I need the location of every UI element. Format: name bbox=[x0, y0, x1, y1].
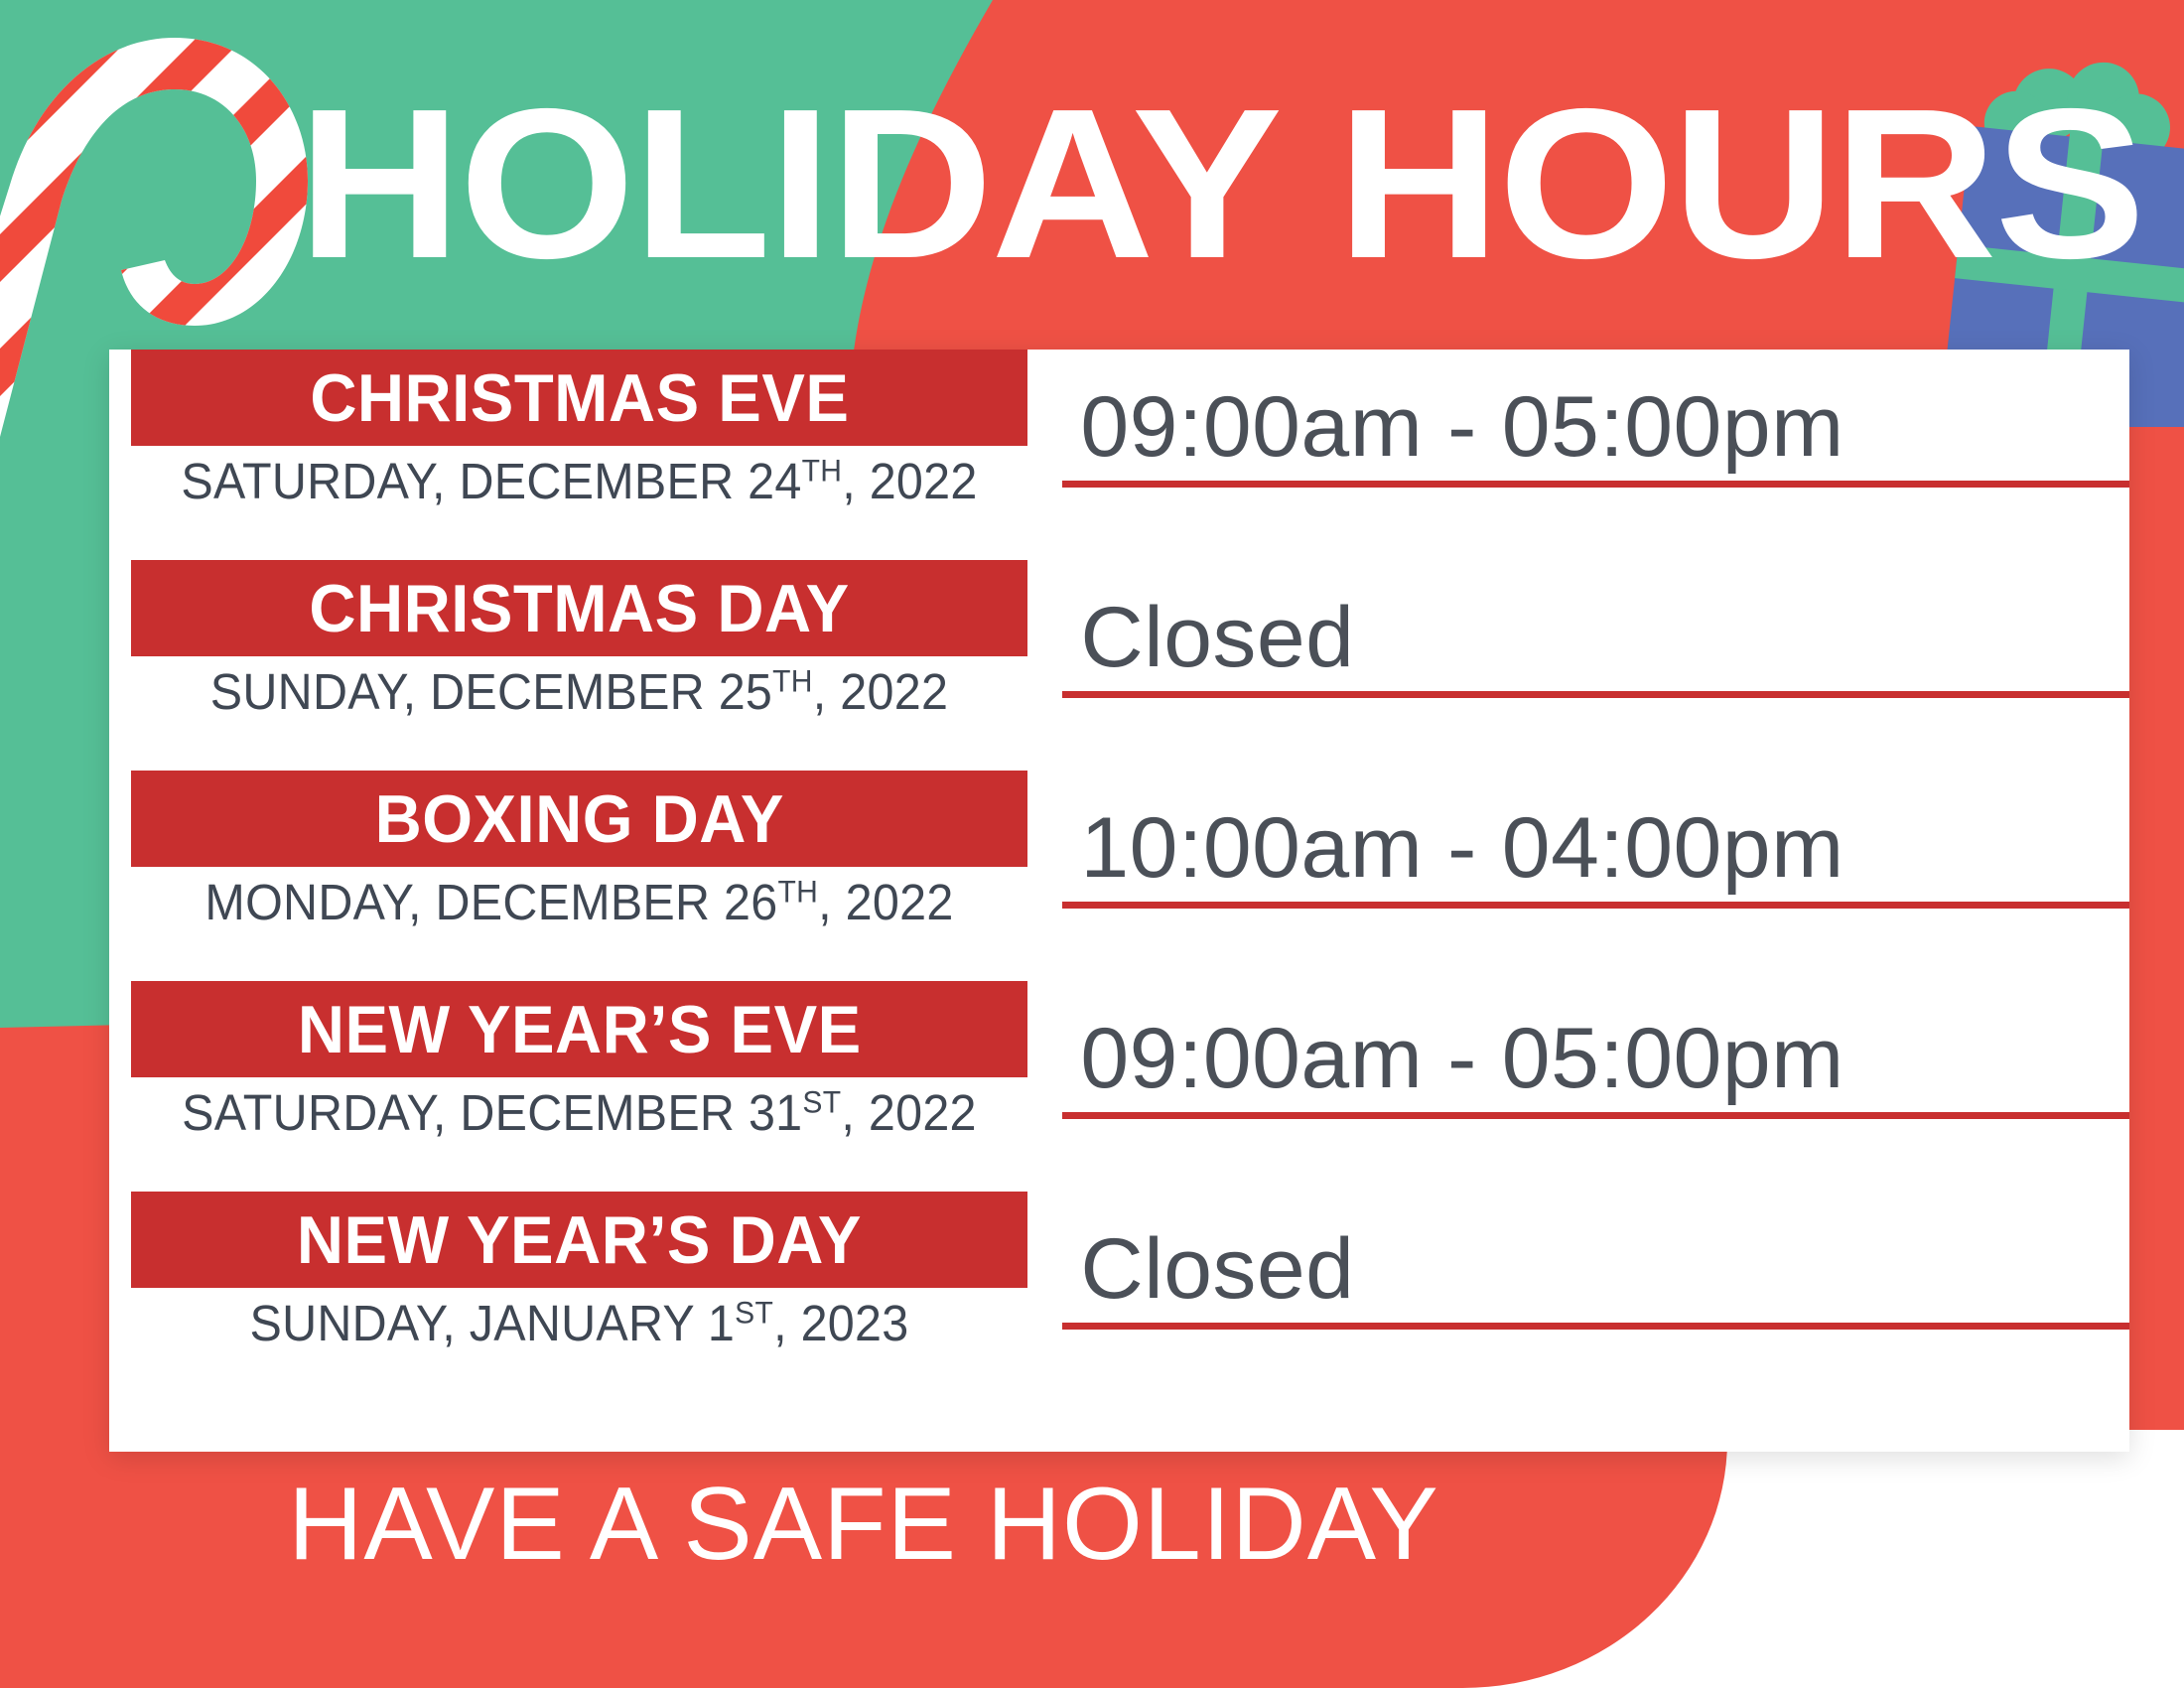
holiday-date: SUNDAY, JANUARY 1ST, 2023 bbox=[154, 1294, 1006, 1352]
footer-message: HAVE A SAFE HOLIDAY bbox=[0, 1470, 1727, 1579]
holiday-hours-poster: HOLIDAY HOURS CHRISTMAS EVESATURDAY, DEC… bbox=[0, 0, 2184, 1688]
date-main: SUNDAY, DECEMBER 25 bbox=[210, 663, 772, 720]
date-main: SUNDAY, JANUARY 1 bbox=[249, 1295, 735, 1351]
date-ordinal: ST bbox=[802, 1084, 841, 1120]
holiday-name: NEW YEAR’S EVE bbox=[298, 991, 862, 1068]
schedule-row: BOXING DAYMONDAY, DECEMBER 26TH, 202210:… bbox=[109, 771, 2129, 981]
date-main: MONDAY, DECEMBER 26 bbox=[205, 874, 777, 930]
holiday-name: CHRISTMAS DAY bbox=[309, 570, 849, 647]
schedule-card: CHRISTMAS EVESATURDAY, DECEMBER 24TH, 20… bbox=[109, 350, 2129, 1452]
hours-value: Closed bbox=[1062, 591, 1354, 691]
date-year: , 2022 bbox=[842, 453, 977, 509]
date-year: , 2022 bbox=[818, 874, 953, 930]
date-main: SATURDAY, DECEMBER 31 bbox=[182, 1084, 802, 1141]
schedule-row: CHRISTMAS EVESATURDAY, DECEMBER 24TH, 20… bbox=[109, 350, 2129, 560]
holiday-banner: BOXING DAY bbox=[131, 771, 1027, 867]
date-year: , 2022 bbox=[813, 663, 948, 720]
holiday-name: BOXING DAY bbox=[374, 780, 783, 858]
holiday-date: SUNDAY, DECEMBER 25TH, 2022 bbox=[154, 662, 1006, 721]
date-ordinal: TH bbox=[802, 453, 843, 489]
holiday-name: CHRISTMAS EVE bbox=[310, 359, 849, 437]
date-ordinal: TH bbox=[772, 663, 813, 699]
hours-value: 09:00am - 05:00pm bbox=[1062, 1012, 1844, 1112]
holiday-banner: CHRISTMAS EVE bbox=[131, 350, 1027, 446]
date-ordinal: ST bbox=[735, 1295, 773, 1331]
holiday-date: MONDAY, DECEMBER 26TH, 2022 bbox=[154, 873, 1006, 931]
schedule-row: CHRISTMAS DAYSUNDAY, DECEMBER 25TH, 2022… bbox=[109, 560, 2129, 771]
hours-value: 09:00am - 05:00pm bbox=[1062, 380, 1844, 481]
holiday-date: SATURDAY, DECEMBER 31ST, 2022 bbox=[154, 1083, 1006, 1142]
schedule-rows: CHRISTMAS EVESATURDAY, DECEMBER 24TH, 20… bbox=[109, 350, 2129, 1390]
hours-value: Closed bbox=[1062, 1222, 1354, 1323]
hours-cell: Closed bbox=[1062, 560, 2129, 698]
holiday-date: SATURDAY, DECEMBER 24TH, 2022 bbox=[154, 452, 1006, 510]
date-year: , 2022 bbox=[841, 1084, 976, 1141]
hours-cell: Closed bbox=[1062, 1192, 2129, 1330]
schedule-row: NEW YEAR’S EVESATURDAY, DECEMBER 31ST, 2… bbox=[109, 981, 2129, 1192]
date-ordinal: TH bbox=[778, 874, 819, 910]
holiday-name: NEW YEAR’S DAY bbox=[297, 1201, 862, 1279]
date-year: , 2023 bbox=[773, 1295, 908, 1351]
date-main: SATURDAY, DECEMBER 24 bbox=[181, 453, 801, 509]
hours-cell: 09:00am - 05:00pm bbox=[1062, 350, 2129, 488]
holiday-banner: NEW YEAR’S EVE bbox=[131, 981, 1027, 1077]
schedule-row: NEW YEAR’S DAYSUNDAY, JANUARY 1ST, 2023C… bbox=[109, 1192, 2129, 1390]
hours-cell: 10:00am - 04:00pm bbox=[1062, 771, 2129, 909]
hours-cell: 09:00am - 05:00pm bbox=[1062, 981, 2129, 1119]
holiday-banner: NEW YEAR’S DAY bbox=[131, 1192, 1027, 1288]
hours-value: 10:00am - 04:00pm bbox=[1062, 801, 1844, 902]
page-title: HOLIDAY HOURS bbox=[298, 84, 2034, 283]
holiday-banner: CHRISTMAS DAY bbox=[131, 560, 1027, 656]
